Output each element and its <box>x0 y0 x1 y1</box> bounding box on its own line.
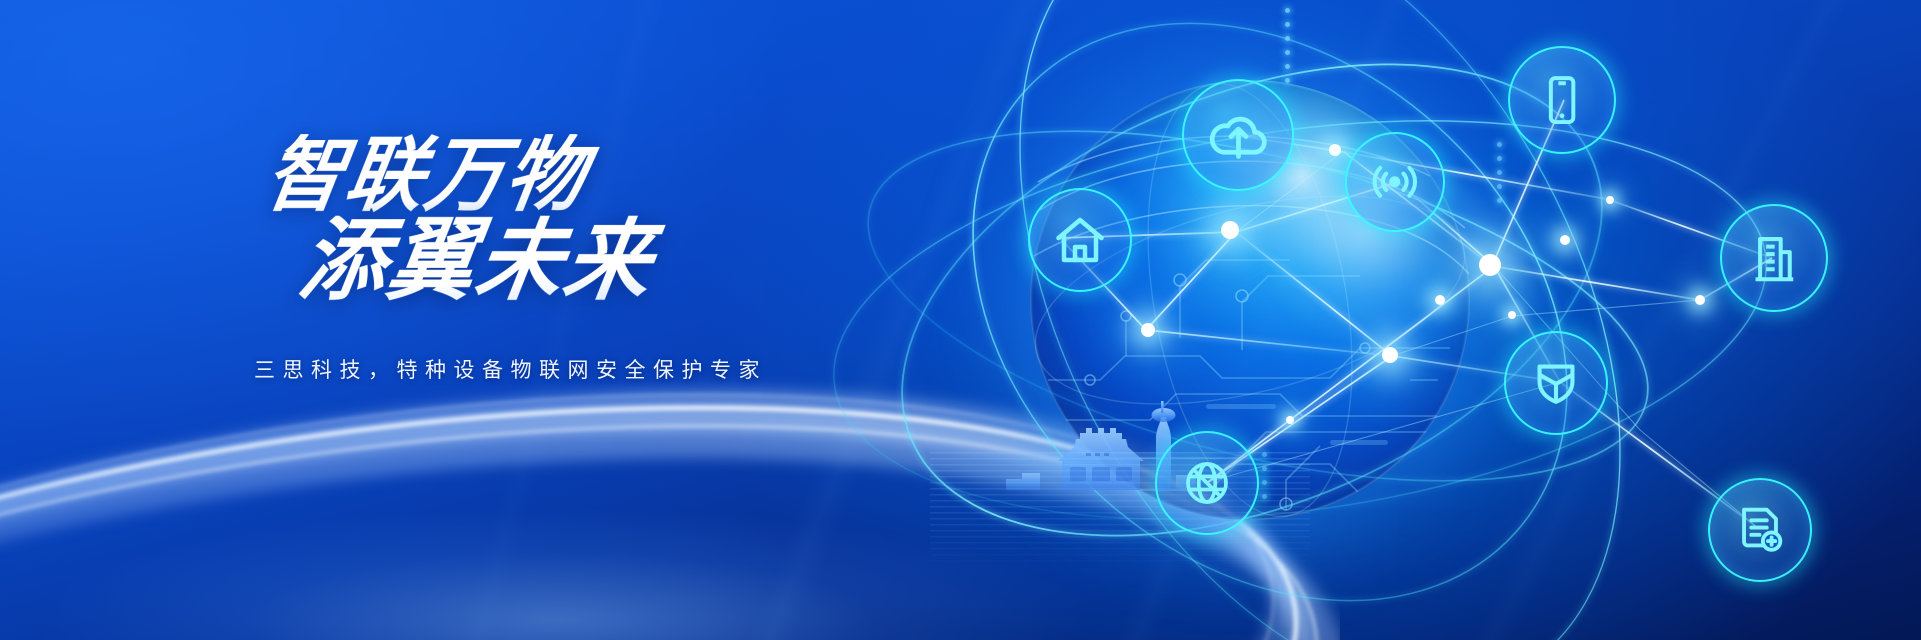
wireless-signal-icon-glyph <box>1366 153 1424 211</box>
headline-line-2: 添翼未来 <box>294 216 1022 306</box>
home-icon[interactable] <box>1028 188 1132 292</box>
document-report-icon[interactable] <box>1708 478 1812 582</box>
hero-banner: 智联万物 添翼未来 三思科技，特种设备物联网安全保护专家 <box>0 0 1921 640</box>
page-title: 智联万物 添翼未来 <box>248 138 1008 306</box>
building-icon-glyph <box>1744 228 1804 288</box>
mobile-phone-icon-glyph <box>1534 72 1590 128</box>
cloud-upload-icon-glyph <box>1205 102 1272 169</box>
globe-network-icon-glyph <box>1177 453 1237 513</box>
network-node <box>1695 295 1705 305</box>
mobile-phone-icon[interactable] <box>1508 46 1616 154</box>
headline-line-1: 智联万物 <box>260 134 1021 216</box>
hero-subtitle: 三思科技，特种设备物联网安全保护专家 <box>254 354 1008 384</box>
wireless-signal-icon[interactable] <box>1345 132 1445 232</box>
building-icon[interactable] <box>1720 204 1828 312</box>
shield-icon-glyph <box>1527 354 1585 412</box>
shield-icon[interactable] <box>1504 331 1608 435</box>
globe-network-icon[interactable] <box>1155 431 1259 535</box>
document-report-icon-glyph <box>1731 501 1789 559</box>
cloud-upload-icon[interactable] <box>1182 79 1294 191</box>
home-icon-glyph <box>1050 210 1110 270</box>
hero-copy: 智联万物 添翼未来 三思科技，特种设备物联网安全保护专家 <box>248 138 1008 384</box>
